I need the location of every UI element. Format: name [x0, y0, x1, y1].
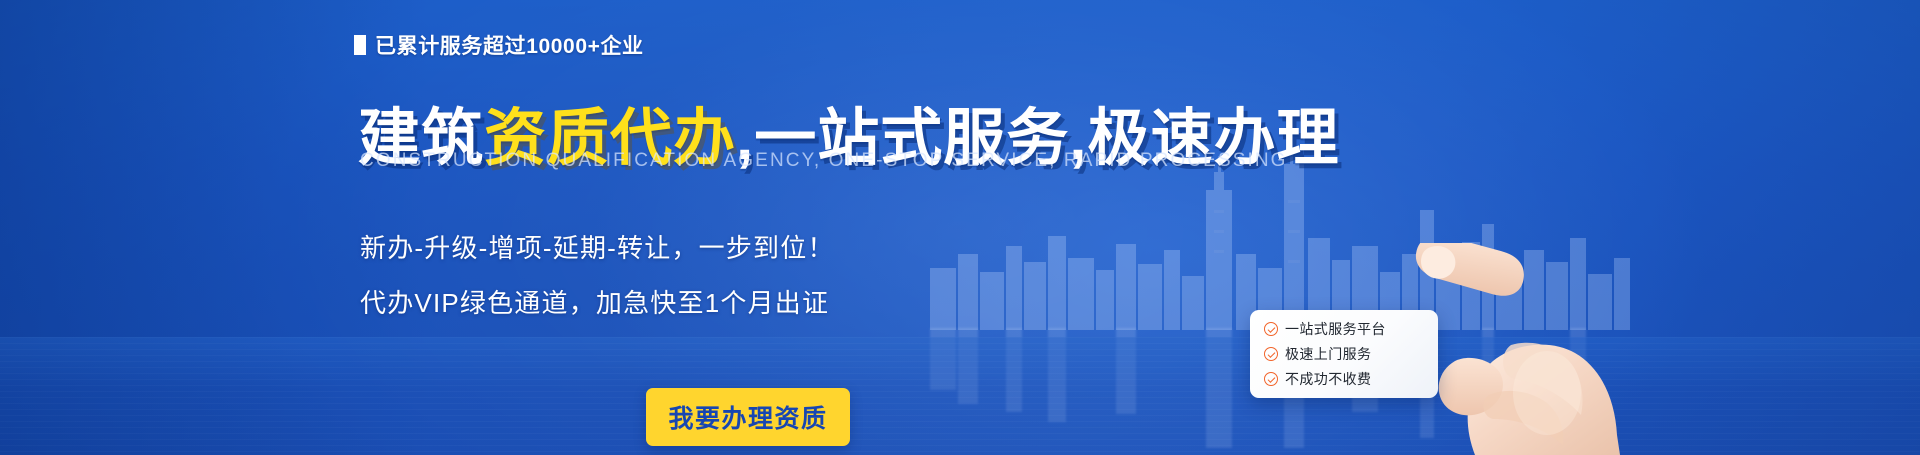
promo-banner: 已累计服务超过10000+企业 建筑资质代办,一站式服务,极速办理 CONSTR… — [0, 0, 1920, 455]
feature-item: 不成功不收费 — [1264, 369, 1438, 389]
check-circle-icon — [1264, 372, 1278, 386]
english-subtitle: CONSTRUCTION QUALIFICATION AGENCY, ONE-S… — [360, 150, 1288, 172]
feature-item: 极速上门服务 — [1264, 344, 1438, 364]
feature-label: 一站式服务平台 — [1285, 319, 1386, 339]
description-line-2: 代办VIP绿色通道，加急快至1个月出证 — [360, 283, 835, 320]
apply-qualification-button[interactable]: 我要办理资质 — [646, 388, 850, 446]
feature-card: 一站式服务平台 极速上门服务 不成功不收费 — [1250, 310, 1438, 398]
eyebrow-text: 已累计服务超过10000+企业 — [375, 30, 644, 60]
feature-item: 一站式服务平台 — [1264, 319, 1438, 339]
description-block: 新办-升级-增项-延期-转让，一步到位！ 代办VIP绿色通道，加急快至1个月出证 — [360, 228, 835, 338]
hand-holding-card-graphic — [1415, 243, 1630, 455]
feature-label: 不成功不收费 — [1285, 369, 1371, 389]
check-circle-icon — [1264, 347, 1278, 361]
check-circle-icon — [1264, 322, 1278, 336]
description-line-1: 新办-升级-增项-延期-转让，一步到位！ — [360, 228, 835, 265]
square-marker-icon — [354, 35, 366, 55]
feature-label: 极速上门服务 — [1285, 344, 1371, 364]
eyebrow-tagline: 已累计服务超过10000+企业 — [354, 30, 644, 60]
banner-content: 已累计服务超过10000+企业 建筑资质代办,一站式服务,极速办理 CONSTR… — [0, 0, 1920, 455]
